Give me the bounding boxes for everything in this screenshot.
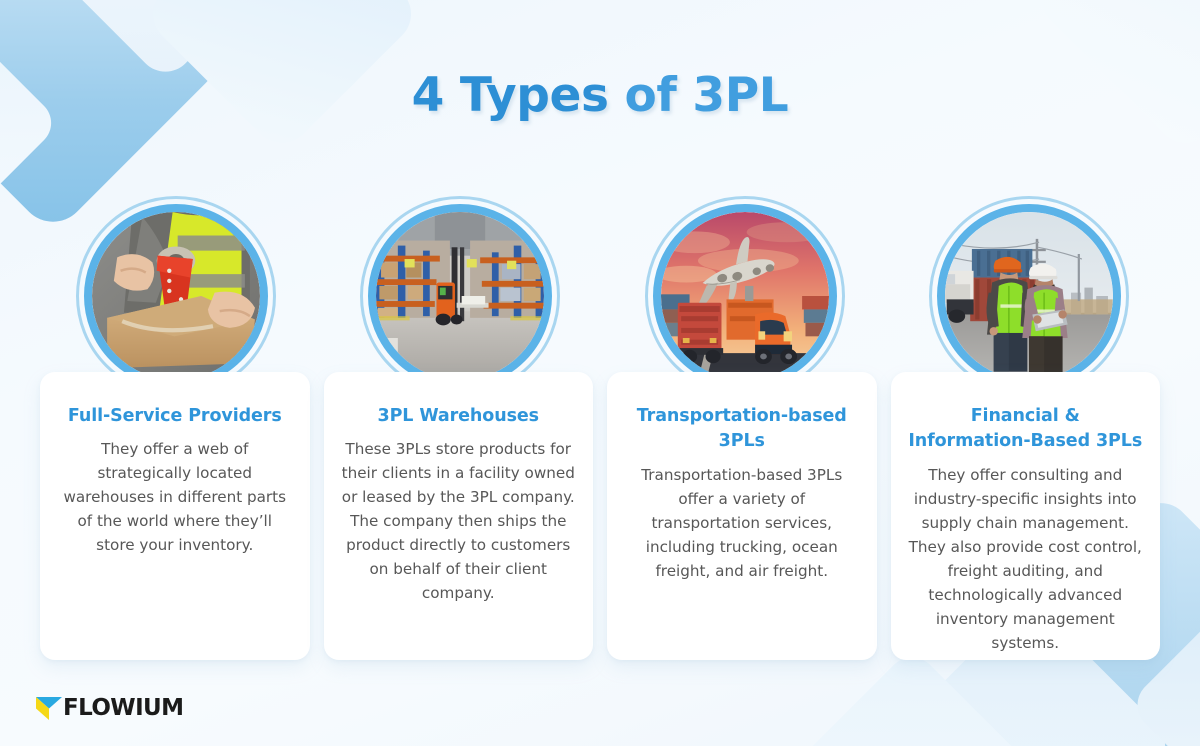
flowium-triangle-mark-icon <box>36 697 62 720</box>
image-ring <box>368 204 552 388</box>
card-title: Full-Service Providers <box>57 404 293 429</box>
photo-plane-and-trucks <box>661 212 829 380</box>
card-image-full-service-providers <box>76 196 276 396</box>
card-title: Transportation-based 3PLs <box>624 404 860 455</box>
card-title: Financial & Information-Based 3PLs <box>908 404 1144 455</box>
card-financial-information-based-3pls[interactable]: Financial & Information-Based 3PLs They … <box>891 372 1161 660</box>
card-image-financial-information-based-3pls <box>929 196 1129 396</box>
page-title-part-2: of 3PL <box>609 68 789 123</box>
card-3pl-warehouses[interactable]: 3PL Warehouses These 3PLs store products… <box>324 372 594 660</box>
image-ring <box>653 204 837 388</box>
card-title: 3PL Warehouses <box>341 404 577 429</box>
card-transportation-based-3pls[interactable]: Transportation-based 3PLs Transportation… <box>607 372 877 660</box>
card-full-service-providers[interactable]: Full-Service Providers They offer a web … <box>40 372 310 660</box>
image-ring <box>84 204 268 388</box>
card-image-transportation-based-3pls <box>645 196 845 396</box>
image-ring <box>937 204 1121 388</box>
card-body: These 3PLs store products for their clie… <box>341 437 577 605</box>
deco-shape-top-left-small <box>0 17 61 229</box>
page-title-part-1: 4 Types <box>412 68 609 123</box>
card-body: They offer consulting and industry-speci… <box>908 463 1144 655</box>
photo-workers-clipboard <box>945 212 1113 380</box>
card-body: They offer a web of strategically locate… <box>57 437 293 557</box>
logo-wordmark: FLOWIUM <box>63 697 183 720</box>
photo-warehouse-forklift <box>376 212 544 380</box>
deco-shape-bottom-right-faint <box>785 647 1040 746</box>
infographic-canvas: 4 Types of 3PL <box>0 0 1200 746</box>
photo-packing-box <box>92 212 260 380</box>
cards-row: Full-Service Providers They offer a web … <box>40 372 1160 660</box>
flowium-logo[interactable]: FLOWIUM <box>36 697 183 720</box>
page-title: 4 Types of 3PL <box>0 68 1200 123</box>
card-image-3pl-warehouses <box>360 196 560 396</box>
card-body: Transportation-based 3PLs offer a variet… <box>624 463 860 583</box>
